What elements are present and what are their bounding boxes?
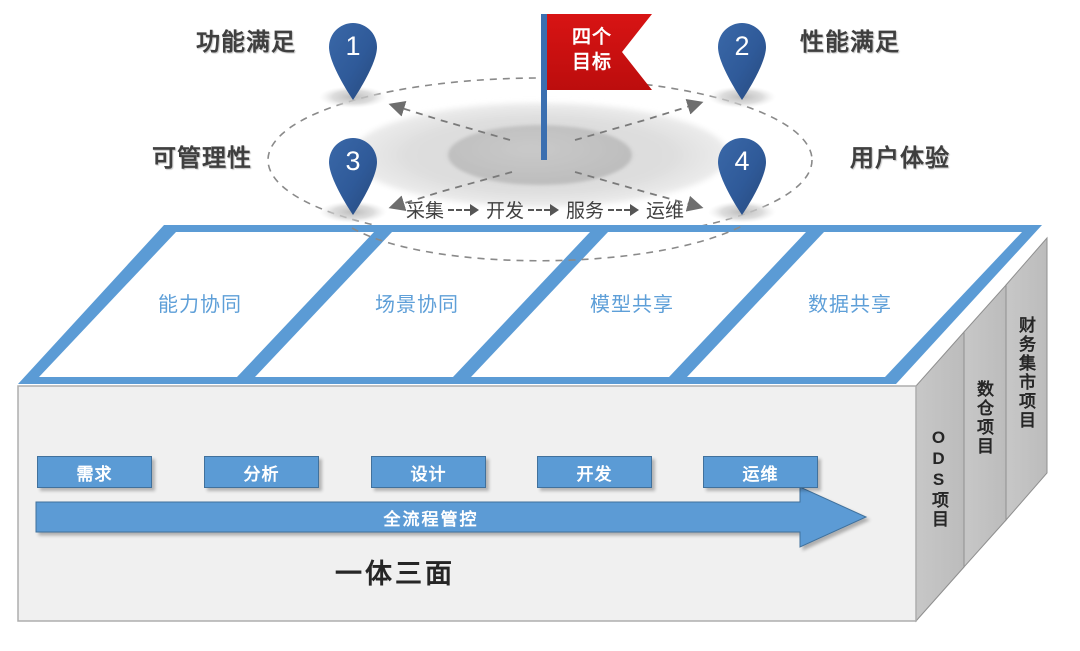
pin-number-3: 3 <box>330 146 376 177</box>
stage-button-development[interactable]: 开发 <box>537 456 652 488</box>
stage-button-analysis[interactable]: 分析 <box>204 456 319 488</box>
goal-label-2: 性能满足 <box>800 22 900 57</box>
stage-button-requirement[interactable]: 需求 <box>37 456 152 488</box>
goal-label-3: 可管理性 <box>152 138 252 173</box>
goal-label-4: 用户体验 <box>850 138 950 173</box>
plane-label-model: 模型共享 <box>590 288 674 317</box>
plane-label-scenario: 场景协同 <box>375 288 459 317</box>
stage-button-label: 分析 <box>244 460 280 485</box>
pin-number-4: 4 <box>719 146 765 177</box>
side-label-dw: 数仓项目 <box>975 380 992 456</box>
goal-label-1: 功能满足 <box>196 22 296 57</box>
diagram-title: 一体三面 <box>0 552 790 591</box>
pin-number-1: 1 <box>330 31 376 62</box>
diagram-canvas: 功能满足 性能满足 可管理性 用户体验 1 2 3 4 四个 目标 采集 开发 … <box>0 0 1080 651</box>
side-label-fin: 财务集市项目 <box>1017 316 1034 430</box>
pipeline-arrow-2 <box>528 204 562 216</box>
flag-label-line1: 四个 <box>564 25 620 50</box>
pipeline-step-2: 开发 <box>484 196 526 223</box>
flag-pole <box>541 14 547 160</box>
pipeline-step-3: 服务 <box>564 196 606 223</box>
stage-button-operations[interactable]: 运维 <box>703 456 818 488</box>
pipeline-steps: 采集 开发 服务 运维 <box>404 196 686 223</box>
side-label-ods: ODS项目 <box>930 428 947 529</box>
pipeline-step-1: 采集 <box>404 196 446 223</box>
flag-label-line2: 目标 <box>564 50 620 75</box>
stage-button-label: 开发 <box>577 460 613 485</box>
plane-label-capability: 能力协同 <box>158 288 242 317</box>
flag-label: 四个 目标 <box>564 25 620 75</box>
pipeline-arrow-1 <box>448 204 482 216</box>
platform-inner-disc <box>448 125 632 185</box>
stage-button-label: 运维 <box>743 460 779 485</box>
pipeline-step-4: 运维 <box>644 196 686 223</box>
stage-button-label: 需求 <box>77 460 113 485</box>
stage-button-design[interactable]: 设计 <box>371 456 486 488</box>
stage-button-label: 设计 <box>411 460 447 485</box>
plane-label-data: 数据共享 <box>808 288 892 317</box>
pin-number-2: 2 <box>719 31 765 62</box>
pipeline-arrow-3 <box>608 204 642 216</box>
